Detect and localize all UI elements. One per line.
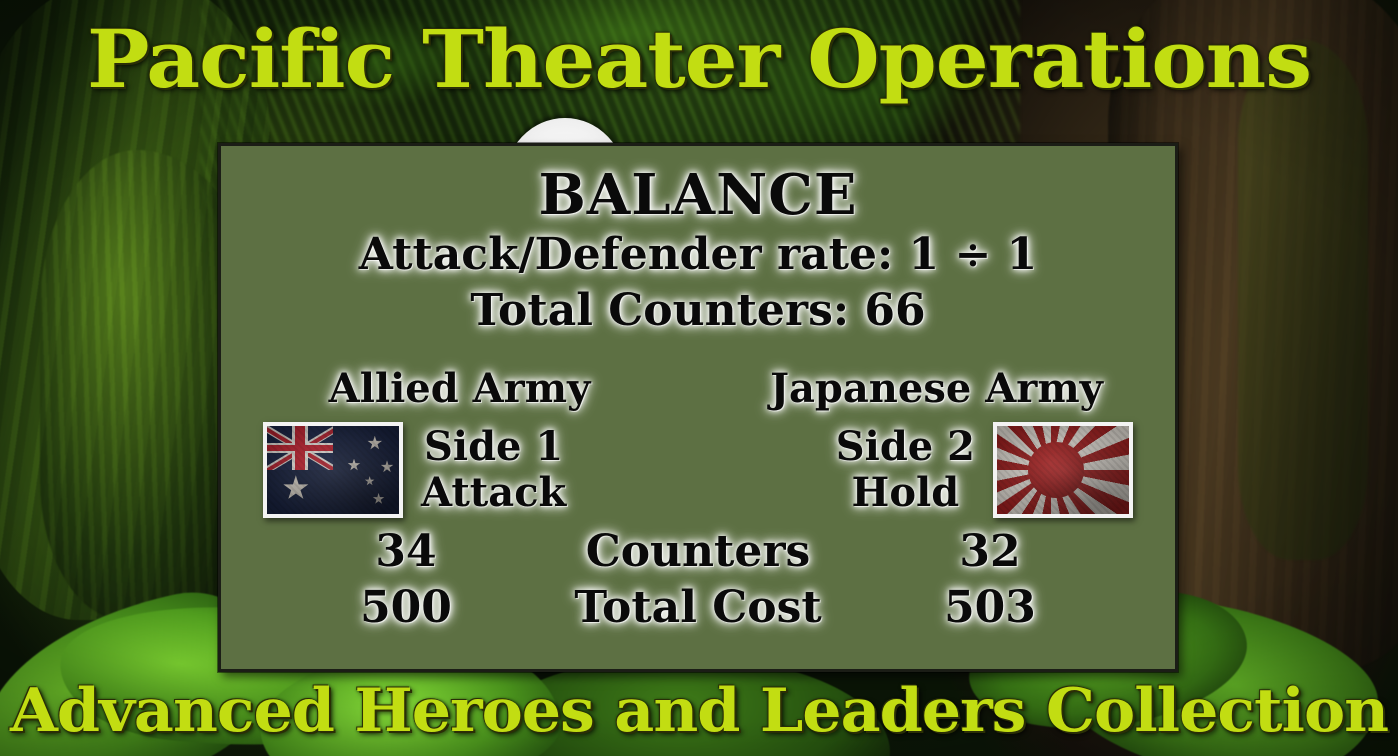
southern-cross-star-gamma bbox=[381, 460, 394, 473]
total-counters: Total Counters: 66 bbox=[221, 284, 1175, 338]
australian-flag-icon bbox=[263, 422, 403, 518]
counters-stat-label: Counters bbox=[551, 526, 845, 578]
japanese-side-text: Side 2 Hold bbox=[836, 424, 975, 516]
counters-stat-row: 34 Counters 32 bbox=[221, 526, 1175, 578]
japanese-side-label: Side 2 bbox=[836, 424, 975, 470]
allied-side-label: Side 1 bbox=[421, 424, 566, 470]
japanese-side-cell: Side 2 Hold bbox=[698, 422, 1145, 518]
total-cost-stat-label: Total Cost bbox=[551, 582, 845, 634]
total-cost-stat-row: 500 Total Cost 503 bbox=[221, 582, 1175, 634]
southern-cross-star-beta bbox=[348, 459, 361, 472]
southern-cross-star-alpha bbox=[367, 436, 382, 451]
allied-side-text: Side 1 Attack bbox=[421, 424, 566, 516]
rising-sun-disc bbox=[1028, 442, 1084, 498]
allied-posture: Attack bbox=[421, 470, 566, 516]
attack-defender-rate: Attack/Defender rate: 1 ÷ 1 bbox=[221, 228, 1175, 282]
page-title: Pacific Theater Operations bbox=[0, 17, 1398, 101]
japanese-total-cost-value: 503 bbox=[845, 582, 1135, 634]
allied-total-cost-value: 500 bbox=[261, 582, 551, 634]
union-jack-canton bbox=[267, 426, 333, 470]
canton-red-cross-horizontal bbox=[267, 445, 333, 451]
screenshot-stage: Pacific Theater Operations BALANCE Attac… bbox=[0, 0, 1398, 756]
japanese-army-label: Japanese Army bbox=[698, 366, 1175, 412]
collection-subtitle: Advanced Heroes and Leaders Collection bbox=[0, 679, 1398, 743]
japanese-counters-value: 32 bbox=[845, 526, 1135, 578]
army-headers: Allied Army Japanese Army bbox=[221, 366, 1175, 412]
sides-row: Side 1 Attack Side 2 Hold bbox=[221, 422, 1175, 518]
japanese-posture: Hold bbox=[836, 470, 975, 516]
southern-cross-star-delta bbox=[373, 493, 385, 505]
balance-panel: BALANCE Attack/Defender rate: 1 ÷ 1 Tota… bbox=[218, 143, 1178, 672]
panel-heading: BALANCE bbox=[221, 164, 1175, 226]
commonwealth-star-icon bbox=[283, 475, 309, 501]
japanese-rising-sun-flag-icon bbox=[993, 422, 1133, 518]
allied-counters-value: 34 bbox=[261, 526, 551, 578]
southern-cross-star-epsilon bbox=[365, 476, 375, 486]
allied-side-cell: Side 1 Attack bbox=[251, 422, 698, 518]
allied-army-label: Allied Army bbox=[221, 366, 698, 412]
